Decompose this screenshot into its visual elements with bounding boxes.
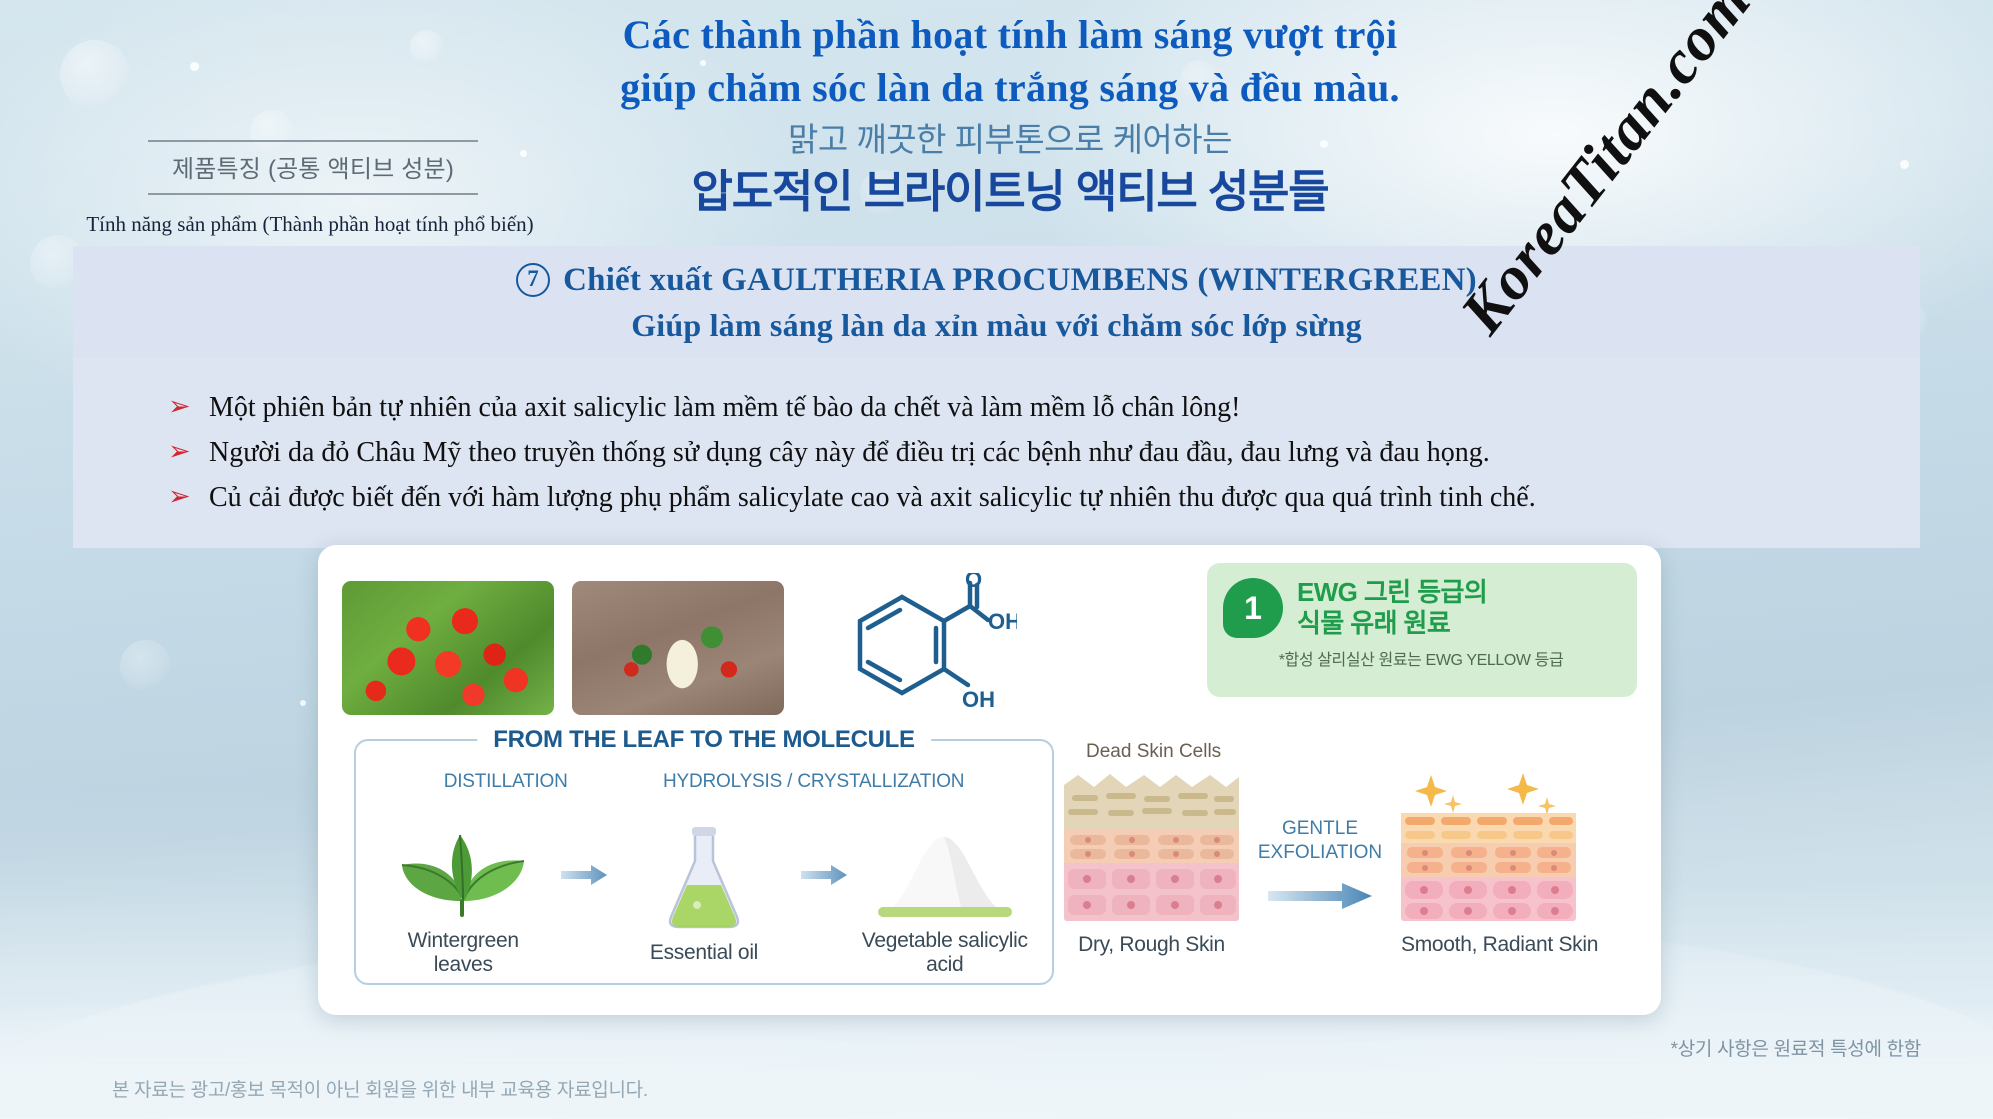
bullet-text: Củ cải được biết đến với hàm lượng phụ p… bbox=[209, 480, 1536, 516]
wintergreen-berries-photo bbox=[342, 581, 554, 715]
salicylic-acid-molecule-diagram: O OH OH bbox=[802, 573, 1017, 723]
banner-ingredient-subtitle: Giúp làm sáng làn da xỉn màu với chăm só… bbox=[631, 304, 1362, 346]
process-stage-caption: Vegetable salicylic acid bbox=[860, 929, 1030, 977]
dead-skin-cells-label: Dead Skin Cells bbox=[1086, 741, 1221, 763]
process-stage-oil: Essential oil bbox=[619, 823, 789, 965]
bullet-item: ➢ Một phiên bản tự nhiên của axit salicy… bbox=[168, 390, 1920, 426]
erlenmeyer-flask-icon bbox=[619, 823, 789, 931]
infographic-top-row: O OH OH 1 EWG 그린 등급의 식물 유래 원료 *합성 살리실산 원… bbox=[342, 563, 1637, 733]
headline-block: Các thành phần hoạt tính làm sáng vượt t… bbox=[480, 8, 1540, 220]
ewg-grade-card: 1 EWG 그린 등급의 식물 유래 원료 *합성 살리실산 원료는 EWG Y… bbox=[1207, 563, 1637, 697]
skin-after-block: Smooth, Radiant Skin bbox=[1401, 769, 1576, 957]
process-stage-caption: Wintergreen leaves bbox=[378, 929, 548, 977]
headline-korean-main: 압도적인 브라이트닝 액티브 성분들 bbox=[480, 163, 1540, 220]
arrow-right-icon bbox=[561, 864, 607, 886]
process-stage-powder: Vegetable salicylic acid bbox=[860, 811, 1030, 977]
ewg-title-line2: 식물 유래 원료 bbox=[1297, 608, 1487, 639]
process-diagram: FROM THE LEAF TO THE MOLECULE DISTILLATI… bbox=[354, 739, 1054, 985]
wintergreen-leaves-icon bbox=[378, 811, 548, 919]
headline-vietnamese-line2: giúp chăm sóc làn da trắng sáng và đều m… bbox=[480, 61, 1540, 114]
headline-korean-sub: 맑고 깨끗한 피부톤으로 케어하는 bbox=[480, 116, 1540, 163]
skin-comparison-row: Dry, Rough Skin GENTLE EXFOLIATION bbox=[1064, 769, 1576, 957]
essential-oil-photo bbox=[572, 581, 784, 715]
arrow-right-icon bbox=[801, 864, 847, 886]
skin-after-caption: Smooth, Radiant Skin bbox=[1401, 933, 1576, 957]
skin-before-block: Dry, Rough Skin bbox=[1064, 769, 1239, 957]
gentle-exfoliation-step: GENTLE EXFOLIATION bbox=[1245, 817, 1395, 909]
process-stages: Wintergreen leaves bbox=[356, 811, 1052, 977]
bullet-item: ➢ Người da đỏ Châu Mỹ theo truyền thống … bbox=[168, 435, 1920, 471]
dry-rough-skin-illustration bbox=[1064, 769, 1239, 921]
arrow-bullet-icon: ➢ bbox=[168, 480, 188, 513]
photo-and-molecule-row: O OH OH bbox=[342, 563, 1017, 733]
footnote-left: 본 자료는 광고/홍보 목적이 아닌 회원을 위한 내부 교육용 자료입니다. bbox=[112, 1075, 648, 1102]
process-stage-caption: Essential oil bbox=[619, 941, 789, 965]
ewg-number-badge: 1 bbox=[1223, 578, 1283, 638]
bullet-panel: ➢ Một phiên bản tự nhiên của axit salicy… bbox=[73, 358, 1920, 548]
sparkle-icon bbox=[1415, 773, 1556, 815]
ingredient-banner: 7 Chiết xuất GAULTHERIA PROCUMBENS (WINT… bbox=[73, 246, 1920, 358]
process-diagram-title: FROM THE LEAF TO THE MOLECULE bbox=[477, 726, 931, 754]
process-step-label: HYDROLYSIS / CRYSTALLIZATION bbox=[663, 771, 964, 793]
infographic-card: O OH OH 1 EWG 그린 등급의 식물 유래 원료 *합성 살리실산 원… bbox=[318, 545, 1661, 1015]
headline-vietnamese-line1: Các thành phần hoạt tính làm sáng vượt t… bbox=[480, 8, 1540, 61]
footnote-right: *상기 사항은 원료적 특성에 한함 bbox=[1671, 1034, 1921, 1061]
arrow-bullet-icon: ➢ bbox=[168, 390, 188, 423]
bullet-text: Một phiên bản tự nhiên của axit salicyli… bbox=[209, 390, 1240, 426]
bullet-text: Người da đỏ Châu Mỹ theo truyền thống sử… bbox=[209, 435, 1490, 471]
infographic-bottom-row: FROM THE LEAF TO THE MOLECULE DISTILLATI… bbox=[342, 739, 1637, 997]
molecule-label-OH-right: OH bbox=[988, 609, 1017, 634]
gentle-exfoliation-label: GENTLE EXFOLIATION bbox=[1245, 817, 1395, 865]
snow-flake bbox=[300, 700, 306, 706]
gentle-exfoliation-line2: EXFOLIATION bbox=[1245, 841, 1395, 865]
salicylic-acid-powder-icon bbox=[860, 811, 1030, 919]
gentle-exfoliation-line1: GENTLE bbox=[1245, 817, 1395, 841]
molecule-label-OH-bottom: OH bbox=[962, 687, 995, 712]
section-label-korean: 제품특징 (공통 액티브 성분) bbox=[148, 140, 478, 195]
skin-exfoliation-diagram: Dead Skin Cells bbox=[1054, 739, 1637, 997]
process-step-labels: DISTILLATION HYDROLYSIS / CRYSTALLIZATIO… bbox=[356, 771, 1052, 793]
smooth-radiant-skin-illustration bbox=[1401, 769, 1576, 921]
bokeh-circle bbox=[120, 640, 172, 692]
slide-header: 제품특징 (공통 액티브 성분) Tính năng sản phẩm (Thà… bbox=[0, 0, 1993, 250]
process-step-label: DISTILLATION bbox=[444, 771, 568, 793]
banner-title-row: 7 Chiết xuất GAULTHERIA PROCUMBENS (WINT… bbox=[516, 259, 1477, 301]
process-stage-leaves: Wintergreen leaves bbox=[378, 811, 548, 977]
ewg-title: EWG 그린 등급의 식물 유래 원료 bbox=[1297, 577, 1487, 639]
banner-ingredient-title: Chiết xuất GAULTHERIA PROCUMBENS (WINTER… bbox=[563, 259, 1477, 301]
slide-background: 제품특징 (공통 액티브 성분) Tính năng sản phẩm (Thà… bbox=[0, 0, 1993, 1119]
bullet-item: ➢ Củ cải được biết đến với hàm lượng phụ… bbox=[168, 480, 1920, 516]
banner-number-badge: 7 bbox=[516, 263, 550, 297]
ewg-footnote: *합성 살리실산 원료는 EWG YELLOW 등급 bbox=[1223, 646, 1619, 670]
arrow-bullet-icon: ➢ bbox=[168, 435, 188, 468]
skin-before-caption: Dry, Rough Skin bbox=[1064, 933, 1239, 957]
ewg-title-line1: EWG 그린 등급의 bbox=[1297, 577, 1487, 608]
ewg-head: 1 EWG 그린 등급의 식물 유래 원료 bbox=[1223, 577, 1619, 639]
arrow-right-icon bbox=[1268, 883, 1372, 909]
molecule-label-O: O bbox=[965, 573, 982, 592]
